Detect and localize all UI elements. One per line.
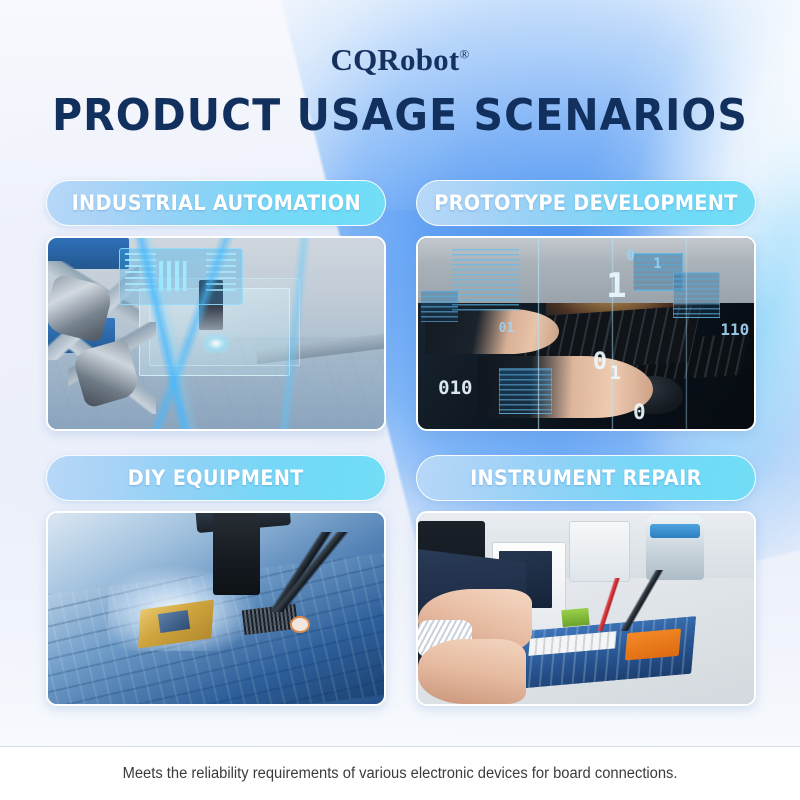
binary-overlay-digit: 1 — [610, 364, 621, 383]
scenario-label-pill: PROTOTYPE DEVELOPMENT — [416, 180, 756, 226]
scenario-label-pill: DIY EQUIPMENT — [46, 455, 386, 501]
scenario-label-pill: INDUSTRIAL AUTOMATION — [46, 180, 386, 226]
scenario-label-text: INDUSTRIAL AUTOMATION — [71, 191, 360, 215]
scenario-card-prototype-development: PROTOTYPE DEVELOPMENT 1 0 1 — [416, 180, 756, 431]
binary-overlay-digit: 110 — [720, 322, 749, 338]
scenario-photo-diy-equipment — [46, 511, 386, 706]
footer: Meets the reliability requirements of va… — [0, 747, 800, 800]
footer-caption: Meets the reliability requirements of va… — [123, 765, 678, 783]
binary-overlay-digit: 0 — [626, 249, 634, 263]
scenario-label-text: INSTRUMENT REPAIR — [470, 466, 702, 490]
binary-overlay-digit: 1 — [606, 269, 626, 303]
product-usage-scenarios-banner: CQRobot® PRODUCT USAGE SCENARIOS INDUSTR… — [0, 0, 800, 800]
scenario-label-pill: INSTRUMENT REPAIR — [416, 455, 756, 501]
binary-overlay-digit: 01 — [499, 322, 515, 335]
brand-logo-text: CQRobot — [331, 42, 460, 77]
scenario-card-diy-equipment: DIY EQUIPMENT — [46, 455, 386, 706]
binary-overlay-digit: 0 — [633, 402, 646, 423]
brand-logo: CQRobot® — [0, 42, 800, 78]
scenario-photo-industrial-automation — [46, 236, 386, 431]
binary-overlay-digit: 1 — [653, 257, 661, 271]
scenario-photo-instrument-repair — [416, 511, 756, 706]
registered-trademark-icon: ® — [459, 47, 469, 62]
page-title: PRODUCT USAGE SCENARIOS — [28, 90, 772, 142]
scenario-label-text: PROTOTYPE DEVELOPMENT — [434, 191, 737, 215]
binary-overlay-digit: 0 — [593, 349, 607, 373]
scenario-card-industrial-automation: INDUSTRIAL AUTOMATION — [46, 180, 386, 431]
binary-overlay-digit: 010 — [438, 379, 472, 398]
scenario-card-instrument-repair: INSTRUMENT REPAIR — [416, 455, 756, 706]
scenario-label-text: DIY EQUIPMENT — [128, 466, 304, 490]
scenario-grid: INDUSTRIAL AUTOMATION — [46, 180, 756, 706]
scenario-photo-prototype-development: 1 0 1 0 1 010 110 0 01 — [416, 236, 756, 431]
